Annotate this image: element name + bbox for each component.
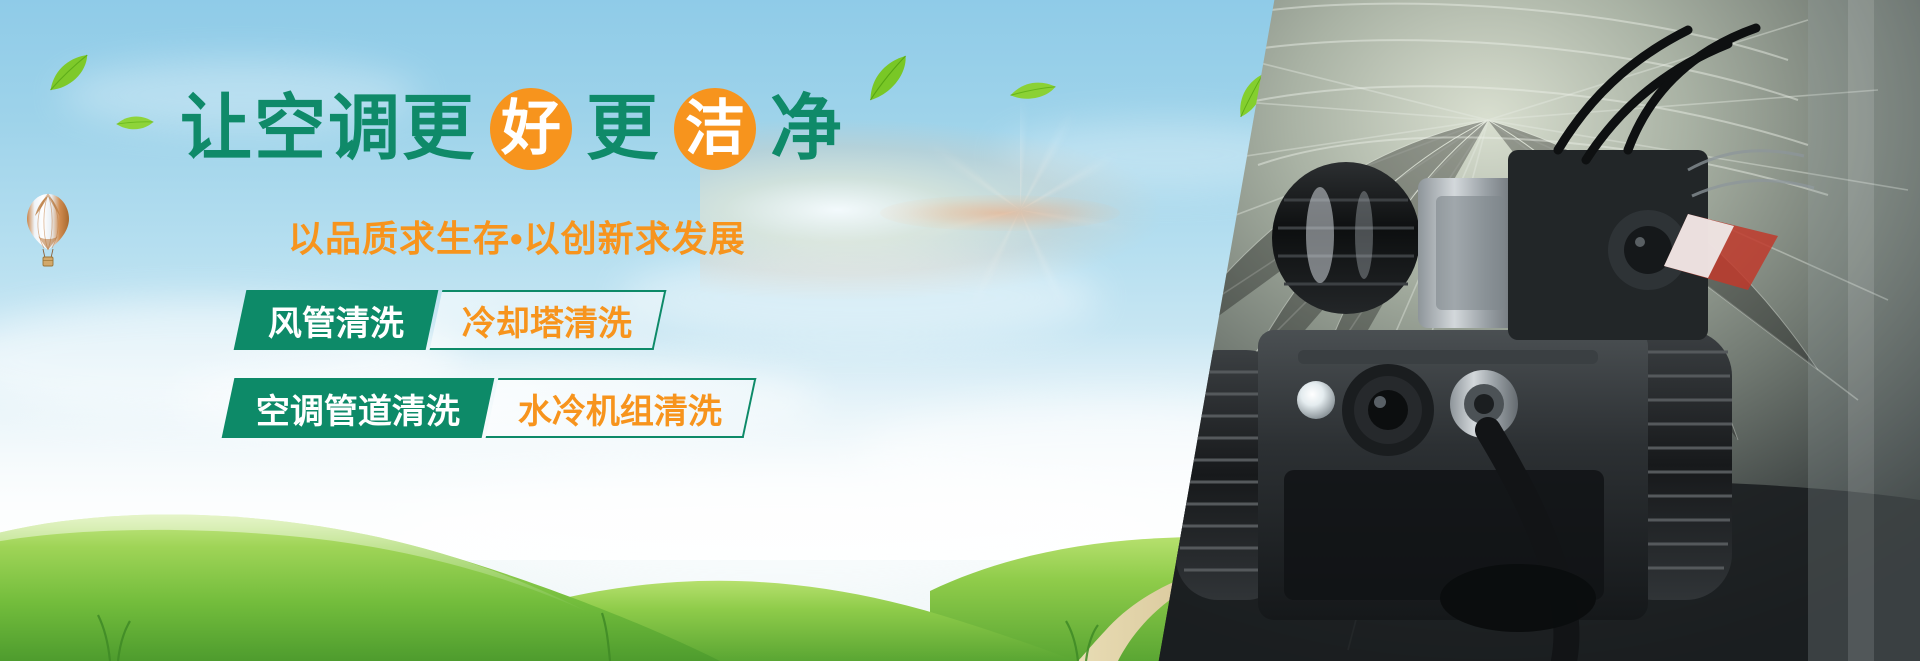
headline-segment-1: 让空调更 bbox=[180, 93, 476, 165]
robot-lamp bbox=[1297, 381, 1335, 419]
service-tag-row-1: 风管清洗 冷却塔清洗 bbox=[240, 290, 660, 350]
service-tag-label: 水冷机组清洗 bbox=[518, 384, 722, 433]
service-tag-duct-cleaning[interactable]: 风管清洗 bbox=[234, 290, 439, 350]
banner-subtitle: 以品质求生存•以创新求发展 bbox=[288, 210, 746, 262]
duct-cleaning-robot-photo bbox=[1088, 0, 1920, 661]
service-tag-label: 风管清洗 bbox=[268, 296, 404, 345]
service-tag-row-2: 空调管道清洗 水冷机组清洗 bbox=[228, 378, 750, 438]
headline-segment-3: 净 bbox=[770, 93, 844, 165]
page-title: 让空调更 好 更 洁 净 bbox=[180, 88, 844, 170]
service-tag-ac-pipe-cleaning[interactable]: 空调管道清洗 bbox=[222, 378, 495, 438]
rotating-brush bbox=[1272, 162, 1420, 314]
headline-highlight-hao: 好 bbox=[490, 88, 572, 170]
service-tag-label: 冷却塔清洗 bbox=[462, 296, 632, 345]
robot-disc bbox=[1440, 564, 1596, 632]
service-tag-label: 空调管道清洗 bbox=[256, 384, 460, 433]
service-tag-water-chiller-cleaning[interactable]: 水冷机组清洗 bbox=[486, 378, 757, 438]
headline-segment-2: 更 bbox=[586, 93, 660, 165]
service-tag-cooling-tower-cleaning[interactable]: 冷却塔清洗 bbox=[430, 290, 667, 350]
robot-camera bbox=[1342, 364, 1434, 456]
hero-banner: 让空调更 好 更 洁 净 以品质求生存•以创新求发展 风管清洗 冷却塔清洗 空调… bbox=[0, 0, 1920, 661]
headline-highlight-jie: 洁 bbox=[674, 88, 756, 170]
banner-content: 让空调更 好 更 洁 净 以品质求生存•以创新求发展 风管清洗 冷却塔清洗 空调… bbox=[0, 0, 1100, 661]
